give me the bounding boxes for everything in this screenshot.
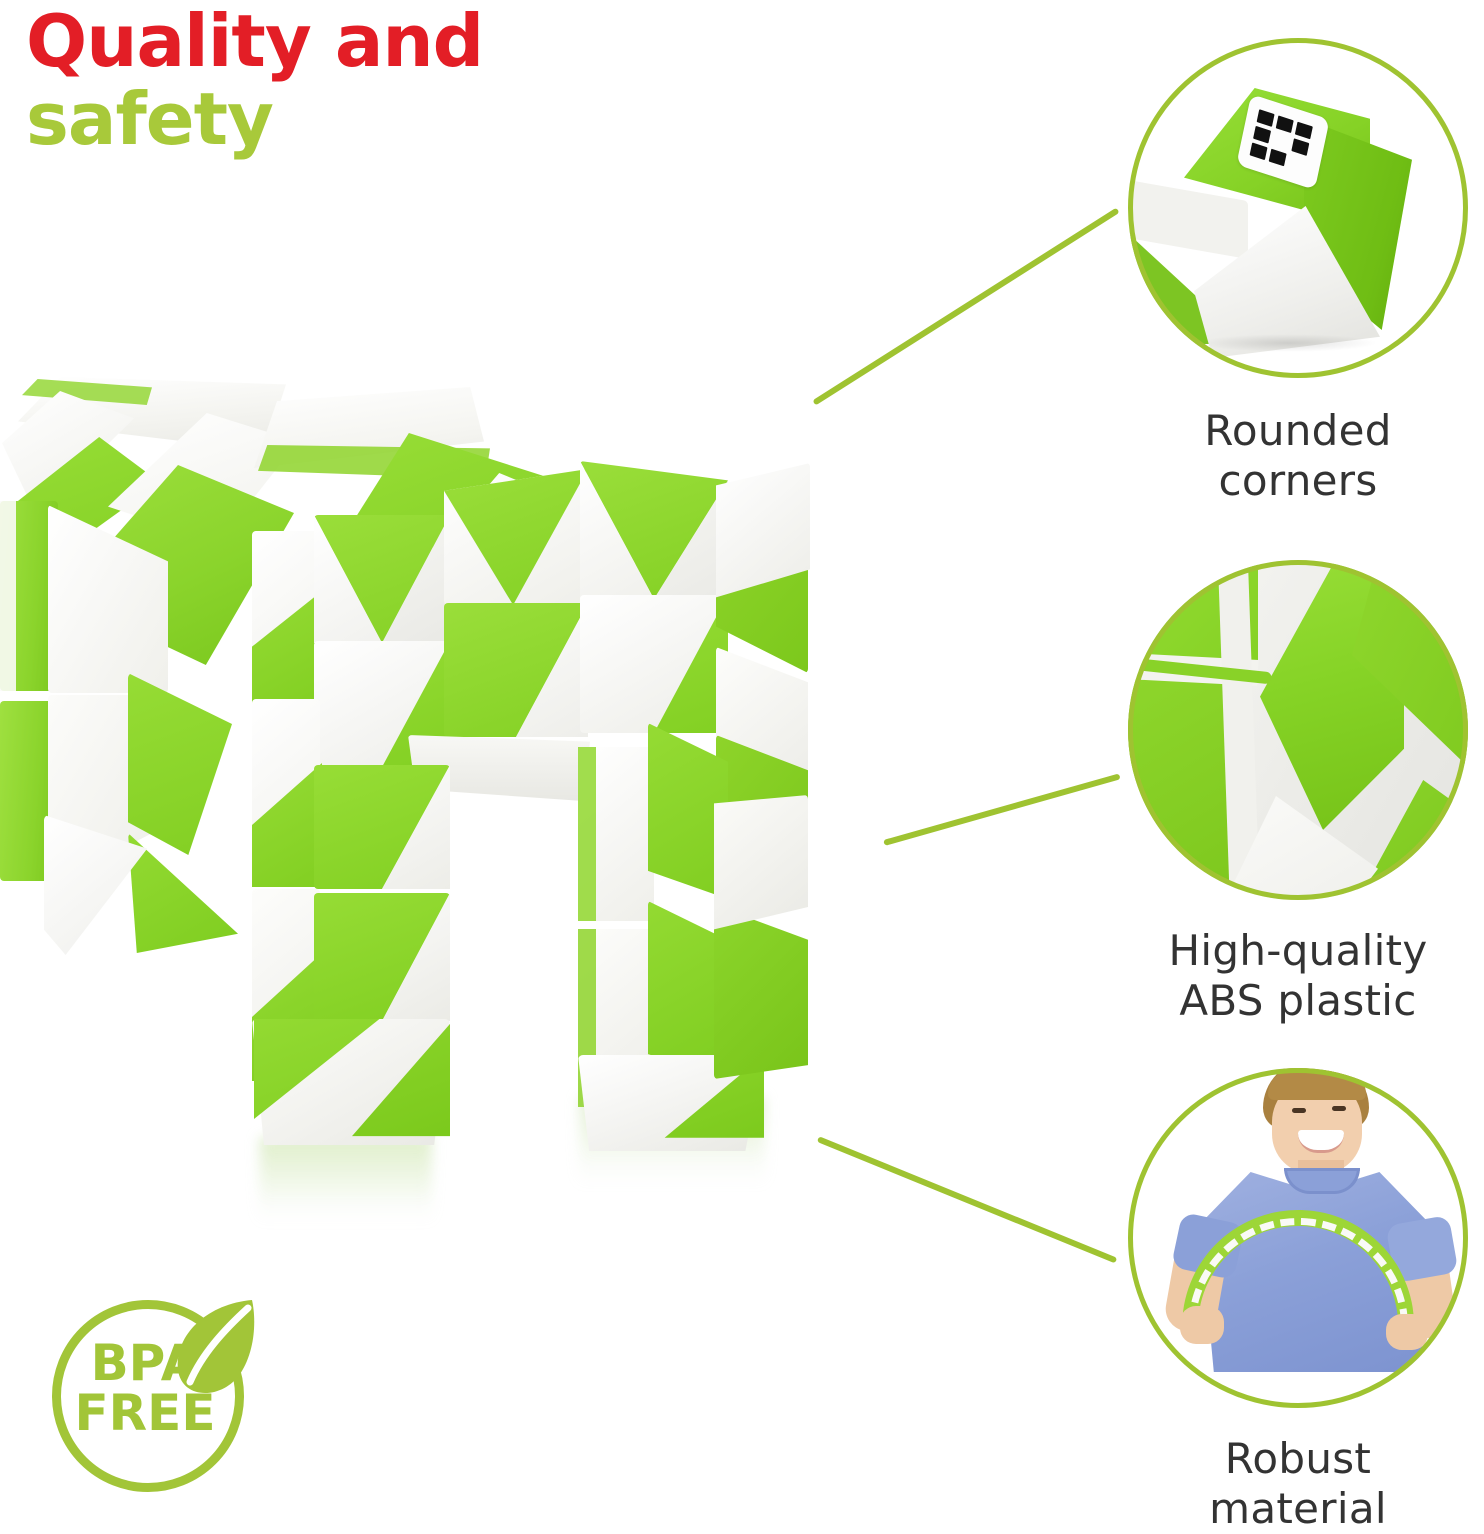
product-image-snake-puzzle (0, 355, 830, 1155)
abs-green-lower-left (1128, 678, 1236, 900)
caption-line-2: corners (1218, 456, 1377, 505)
callout-abs-plastic[interactable]: High-quality ABS plastic (1128, 560, 1468, 1030)
boy-fringe (1268, 1070, 1366, 1100)
connector-line-robust-material (817, 1136, 1117, 1263)
bpa-free-badge: BPA FREE (52, 1294, 256, 1498)
leaf-icon (166, 1296, 258, 1406)
caption-line-2: ABS plastic (1179, 976, 1416, 1025)
boy-hand-right (1386, 1314, 1428, 1350)
caption-line-1: High-quality (1169, 926, 1428, 975)
connector-line-abs-plastic (883, 773, 1120, 845)
callout-image-abs-plastic (1128, 560, 1468, 900)
title-line-2: safety (26, 80, 646, 158)
segment-backleg-green-rightcol (714, 905, 808, 1079)
boy-hand-left (1180, 1306, 1224, 1344)
title-line-1: Quality and (26, 2, 646, 80)
segment-backleg-green-upper-edge (578, 747, 596, 921)
segment-backleg-white-rightcol (714, 795, 808, 935)
callout-image-robust-material (1128, 1068, 1468, 1408)
caption-line-1: Robust (1225, 1434, 1371, 1483)
callout-robust-material[interactable]: Robust material (1128, 1068, 1468, 1500)
boy-eye-left (1292, 1108, 1306, 1113)
callout-caption-rounded-corners: Rounded corners (1128, 406, 1468, 506)
boy-eye-right (1332, 1106, 1346, 1111)
caption-line-2: material (1209, 1484, 1387, 1533)
page-title: Quality and safety (26, 2, 646, 158)
callout-rounded-corners[interactable]: Rounded corners (1128, 38, 1468, 508)
callout-caption-robust-material: Robust material (1128, 1434, 1468, 1534)
segment-frontleg-green-knee (128, 673, 232, 855)
callout-caption-abs-plastic: High-quality ABS plastic (1112, 926, 1484, 1026)
connector-line-rounded-corners (812, 208, 1119, 406)
segment-frontleg-white-slab (0, 501, 16, 691)
caption-line-1: Rounded (1204, 406, 1392, 455)
callout-image-rounded-corners (1128, 38, 1468, 378)
infographic-canvas: Quality and safety (0, 0, 1484, 1500)
reflection-front-leg-green (262, 1137, 430, 1229)
